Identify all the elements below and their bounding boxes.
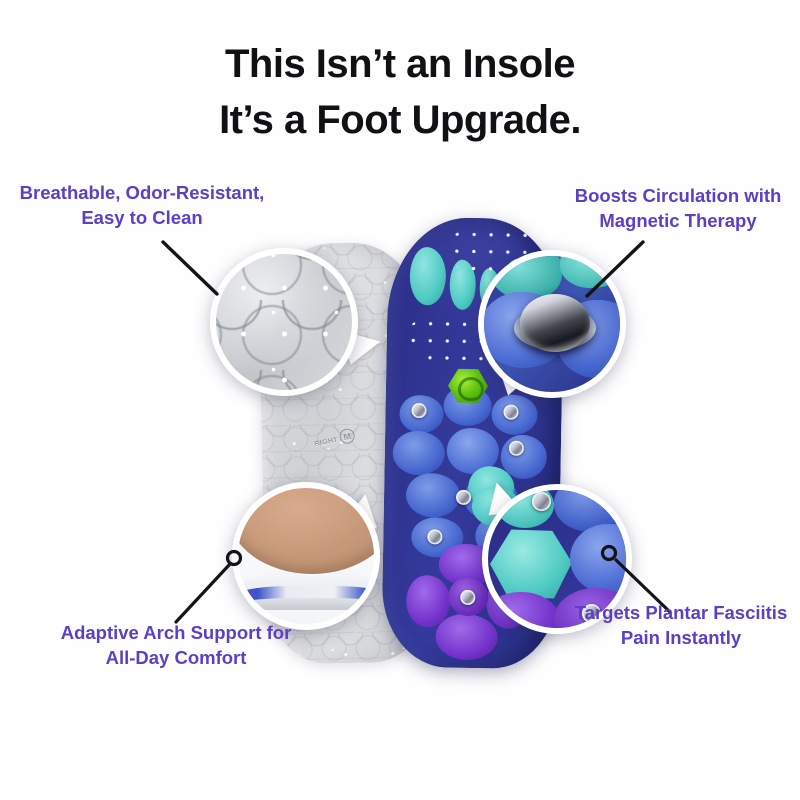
connector-breathable [155,238,245,308]
forefoot-node-7 [406,473,461,518]
connector-arch [168,540,268,630]
headline-line-1: This Isn’t an Insole [0,38,800,90]
insole-size-label: M [338,427,356,445]
page-title: This Isn’t an Insole It’s a Foot Upgrade… [0,38,800,146]
feature-label-arch-support: Adaptive Arch Support for All-Day Comfor… [52,620,300,670]
headline-line-2: It’s a Foot Upgrade. [0,94,800,146]
connector-circulation [565,238,655,308]
feature-label-breathable: Breathable, Odor-Resistant, Easy to Clea… [16,180,268,230]
forefoot-node-4 [392,431,445,476]
infographic-canvas: This Isn’t an Insole It’s a Foot Upgrade… [0,0,800,800]
feature-label-plantar-fasciitis: Targets Plantar Fasciitis Pain Instantly [568,600,794,650]
magnified-node-teal-large [490,528,572,600]
feature-label-circulation: Boosts Circulation with Magnetic Therapy [562,183,794,233]
toe-node-teal-1 [409,247,446,306]
magnified-magnet-stud-1 [532,492,551,511]
